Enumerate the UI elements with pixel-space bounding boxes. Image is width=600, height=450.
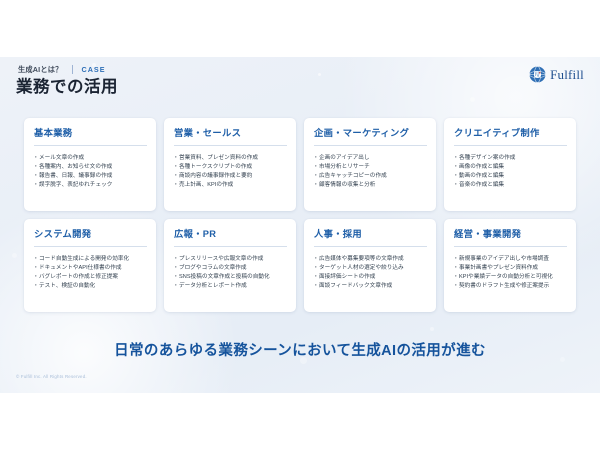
- card-divider: [34, 246, 147, 247]
- card-title: 基本業務: [34, 128, 147, 138]
- card-list-item: 企画のアイデア出し: [314, 154, 427, 163]
- decorative-dot: [12, 253, 17, 258]
- card-title: 人事・採用: [314, 229, 427, 239]
- category-card[interactable]: 基本業務 メール文章の作成 各種案内、お知らせ文の作成 報告書、日報、議事録の作…: [24, 118, 156, 211]
- card-title: クリエイティブ制作: [454, 128, 567, 138]
- card-list-item: データ分析とレポート作成: [174, 282, 287, 291]
- category-card[interactable]: 広報・PR プレスリリースや広報文章の作成 ブログやコラムの文章作成 SNS投稿…: [164, 219, 296, 312]
- decorative-dot: [470, 97, 475, 102]
- card-list-item: 各種案内、お知らせ文の作成: [34, 163, 147, 172]
- card-list-item: 報告書、日報、議事録の作成: [34, 172, 147, 181]
- card-list-item: テスト、検証の自動化: [34, 282, 147, 291]
- slide-canvas: 生成AIとは？ CASE 業務での活用 Fulfill 基本業務: [0, 57, 600, 393]
- card-list-item: 面接評価シートの作成: [314, 273, 427, 282]
- card-list-item: 各種トークスクリプトの作成: [174, 163, 287, 172]
- card-title: 経営・事業開発: [454, 229, 567, 239]
- card-list-item: 営業資料、プレゼン資料の作成: [174, 154, 287, 163]
- card-title: 広報・PR: [174, 229, 287, 239]
- card-list-item: 誤字脱字、表記ゆれチェック: [34, 181, 147, 190]
- card-list-item: コード自動生成による開発の効率化: [34, 255, 147, 264]
- decorative-dot: [318, 73, 321, 76]
- card-item-list: 広告媒体や募集要項等の文章作成 ターゲット人材の選定や絞り込み 面接評価シートの…: [314, 255, 427, 291]
- card-list-item: SNS投稿の文章作成と投稿の自動化: [174, 273, 287, 282]
- category-card[interactable]: 企画・マーケティング 企画のアイデア出し 市場分析とリサーチ 広告キャッチコピー…: [304, 118, 436, 211]
- copyright-notice: © Fulfill Inc. All Rights Reserved.: [16, 375, 87, 379]
- card-list-item: 顧客情報の収集と分析: [314, 181, 427, 190]
- decorative-dot: [430, 327, 434, 331]
- category-card-grid: 基本業務 メール文章の作成 各種案内、お知らせ文の作成 報告書、日報、議事録の作…: [24, 118, 576, 312]
- breadcrumb-separator: [72, 65, 73, 74]
- card-item-list: 営業資料、プレゼン資料の作成 各種トークスクリプトの作成 商談内容の議事録作成と…: [174, 154, 287, 190]
- card-item-list: コード自動生成による開発の効率化 ドキュメントやAPI仕様書の作成 バグレポート…: [34, 255, 147, 291]
- card-list-item: 動画の作成と編集: [454, 172, 567, 181]
- category-card[interactable]: 人事・採用 広告媒体や募集要項等の文章作成 ターゲット人材の選定や絞り込み 面接…: [304, 219, 436, 312]
- card-list-item: メール文章の作成: [34, 154, 147, 163]
- card-divider: [174, 246, 287, 247]
- card-list-item: 広告媒体や募集要項等の文章作成: [314, 255, 427, 264]
- card-list-item: 商談内容の議事録作成と要約: [174, 172, 287, 181]
- card-list-item: ブログやコラムの文章作成: [174, 264, 287, 273]
- card-list-item: プレスリリースや広報文章の作成: [174, 255, 287, 264]
- card-title: 営業・セールス: [174, 128, 287, 138]
- breadcrumb-item-overview[interactable]: 生成AIとは？: [18, 66, 63, 73]
- category-card[interactable]: システム開発 コード自動生成による開発の効率化 ドキュメントやAPI仕様書の作成…: [24, 219, 156, 312]
- card-list-item: 事業計画書やプレゼン資料作成: [454, 264, 567, 273]
- card-item-list: メール文章の作成 各種案内、お知らせ文の作成 報告書、日報、議事録の作成 誤字脱…: [34, 154, 147, 190]
- brand-logo-text: Fulfill: [550, 68, 584, 81]
- card-divider: [314, 145, 427, 146]
- category-card[interactable]: 経営・事業開発 新規事業のアイデア出しや市場調査 事業計画書やプレゼン資料作成 …: [444, 219, 576, 312]
- page-title: 業務での活用: [16, 79, 118, 96]
- globe-brain-logo-icon: [529, 66, 546, 83]
- card-list-item: 市場分析とリサーチ: [314, 163, 427, 172]
- card-divider: [454, 145, 567, 146]
- card-list-item: バグレポートの作成と修正提案: [34, 273, 147, 282]
- card-list-item: ターゲット人材の選定や絞り込み: [314, 264, 427, 273]
- card-divider: [34, 145, 147, 146]
- card-item-list: 企画のアイデア出し 市場分析とリサーチ 広告キャッチコピーの作成 顧客情報の収集…: [314, 154, 427, 190]
- card-divider: [314, 246, 427, 247]
- card-divider: [454, 246, 567, 247]
- breadcrumb-item-case[interactable]: CASE: [82, 66, 106, 73]
- card-list-item: 音楽の作成と編集: [454, 181, 567, 190]
- category-card[interactable]: クリエイティブ制作 各種デザイン案の作成 画像の作成と編集 動画の作成と編集 音…: [444, 118, 576, 211]
- card-title: システム開発: [34, 229, 147, 239]
- card-list-item: 契約書のドラフト生成や修正案提示: [454, 282, 567, 291]
- brand-logo: Fulfill: [529, 66, 584, 83]
- category-card[interactable]: 営業・セールス 営業資料、プレゼン資料の作成 各種トークスクリプトの作成 商談内…: [164, 118, 296, 211]
- card-list-item: 新規事業のアイデア出しや市場調査: [454, 255, 567, 264]
- card-item-list: プレスリリースや広報文章の作成 ブログやコラムの文章作成 SNS投稿の文章作成と…: [174, 255, 287, 291]
- card-list-item: 各種デザイン案の作成: [454, 154, 567, 163]
- card-list-item: 画像の作成と編集: [454, 163, 567, 172]
- breadcrumb: 生成AIとは？ CASE: [18, 65, 106, 74]
- card-list-item: 売上計画、KPIの作成: [174, 181, 287, 190]
- card-list-item: KPIや業績データの自動分析と可視化: [454, 273, 567, 282]
- card-divider: [174, 145, 287, 146]
- card-item-list: 新規事業のアイデア出しや市場調査 事業計画書やプレゼン資料作成 KPIや業績デー…: [454, 255, 567, 291]
- card-item-list: 各種デザイン案の作成 画像の作成と編集 動画の作成と編集 音楽の作成と編集: [454, 154, 567, 190]
- card-title: 企画・マーケティング: [314, 128, 427, 138]
- summary-tagline: 日常のあらゆる業務シーンにおいて生成AIの活用が進む: [0, 344, 600, 359]
- card-list-item: 広告キャッチコピーの作成: [314, 172, 427, 181]
- card-list-item: ドキュメントやAPI仕様書の作成: [34, 264, 147, 273]
- card-list-item: 面談フィードバック文章作成: [314, 282, 427, 291]
